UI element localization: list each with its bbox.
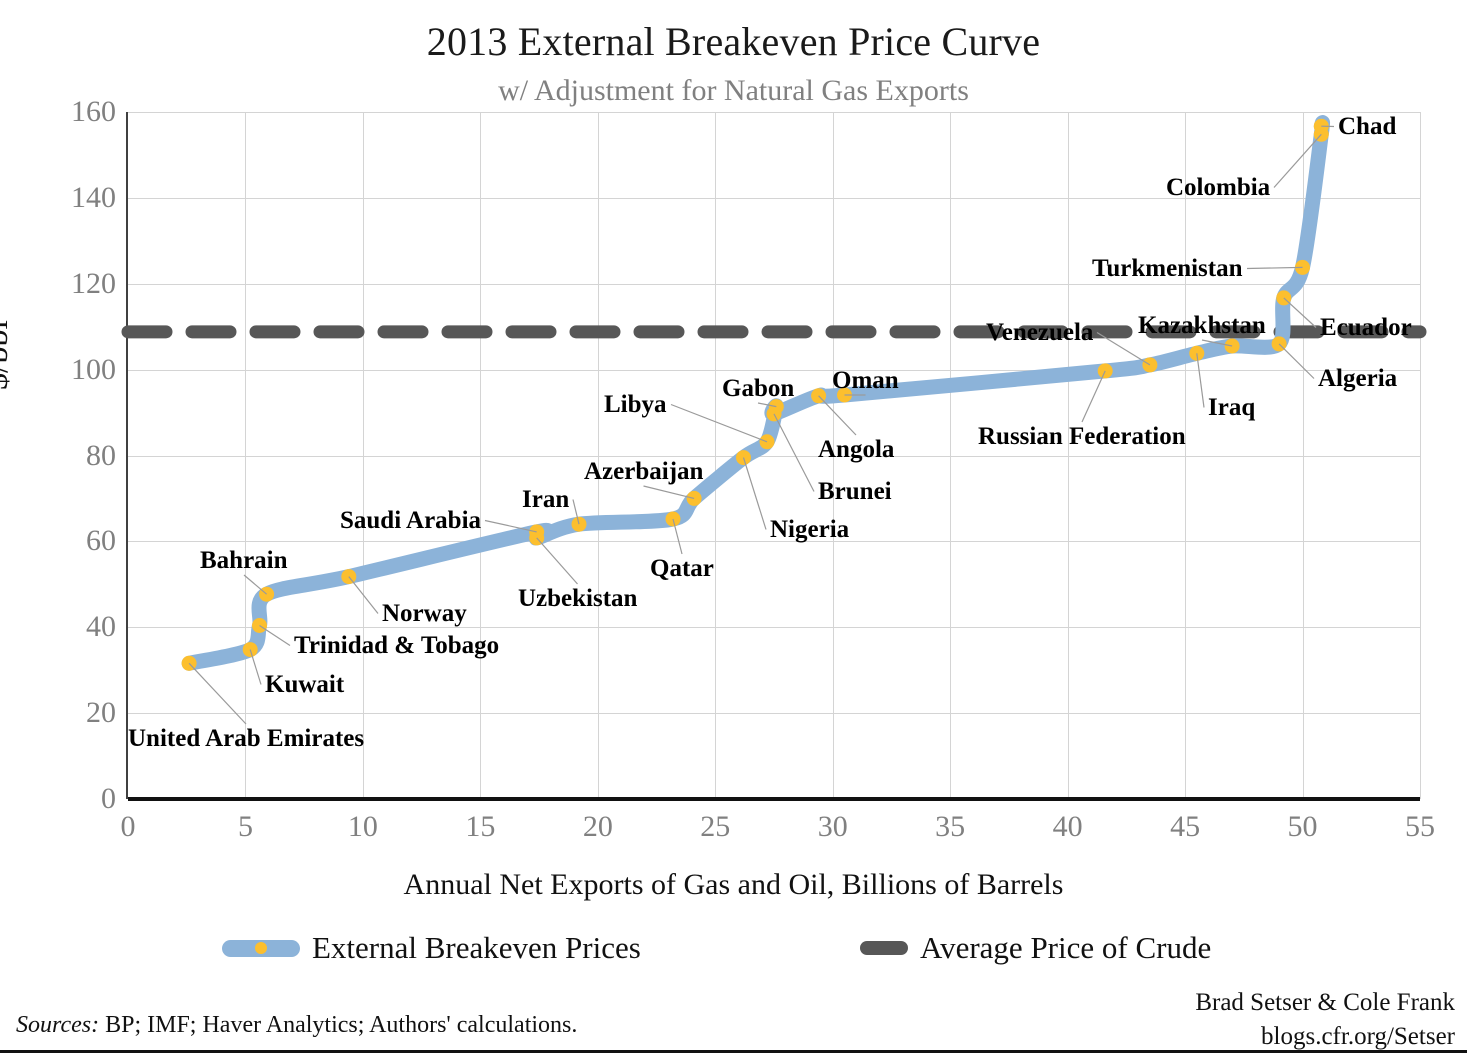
chart-credit: Brad Setser & Cole Frank blogs.cfr.org/S…	[1195, 986, 1455, 1054]
annotation-algeria: Algeria	[1318, 366, 1397, 391]
leader-line-brunei	[774, 414, 814, 492]
annotation-angola: Angola	[818, 437, 894, 462]
leader-line-bahrain	[244, 575, 267, 594]
annotation-qatar: Qatar	[650, 556, 714, 581]
chart-plot-area	[0, 0, 1467, 1056]
leader-line-algeria	[1279, 344, 1314, 379]
chart-legend: External Breakeven Prices Average Price …	[0, 930, 1467, 978]
legend-series-label: External Breakeven Prices	[312, 930, 641, 966]
credit-site[interactable]: blogs.cfr.org/Setser	[1195, 1020, 1455, 1054]
annotation-bahrain: Bahrain	[200, 548, 288, 573]
annotation-azerbaijan: Azerbaijan	[584, 459, 703, 484]
annotation-iraq: Iraq	[1208, 395, 1255, 420]
leader-line-nigeria	[744, 458, 767, 530]
annotation-gabon: Gabon	[722, 376, 794, 401]
annotation-uzbekistan: Uzbekistan	[518, 586, 637, 611]
leader-line-turkmenistan	[1247, 267, 1303, 268]
series-swatch-icon	[222, 940, 300, 957]
legend-reference-label: Average Price of Crude	[920, 930, 1211, 966]
sources-text: BP; IMF; Haver Analytics; Authors' calcu…	[99, 1012, 577, 1038]
credit-authors: Brad Setser & Cole Frank	[1195, 986, 1455, 1020]
leader-line-iraq	[1197, 353, 1204, 407]
leader-line-norway	[349, 577, 378, 614]
annotation-colombia: Colombia	[1166, 175, 1270, 200]
leader-line-uae	[189, 663, 246, 724]
annotation-norway: Norway	[382, 601, 467, 626]
annotation-uae: United Arab Emirates	[128, 726, 364, 751]
reference-swatch-icon	[860, 941, 908, 955]
annotation-libya: Libya	[604, 392, 667, 417]
annotation-kazakhstan: Kazakhstan	[1138, 313, 1266, 338]
sources-prefix: Sources:	[16, 1012, 99, 1038]
annotation-chad: Chad	[1338, 114, 1396, 139]
leader-line-libya	[671, 405, 767, 442]
annotation-saudi: Saudi Arabia	[340, 508, 481, 533]
annotation-russia: Russian Federation	[978, 424, 1186, 449]
annotation-turkmenistan: Turkmenistan	[1092, 256, 1243, 281]
legend-item-reference[interactable]: Average Price of Crude	[860, 930, 1211, 966]
leader-line-azerbaijan	[644, 486, 695, 498]
annotation-kuwait: Kuwait	[265, 672, 344, 697]
leader-line-uzbekistan	[537, 538, 578, 584]
annotation-trinidad: Trinidad & Tobago	[294, 633, 499, 658]
annotation-iran: Iran	[522, 487, 569, 512]
footer-rule	[0, 1050, 1467, 1053]
chart-sources: Sources: BP; IMF; Haver Analytics; Autho…	[16, 1012, 577, 1039]
annotation-oman: Oman	[832, 368, 899, 393]
legend-item-series[interactable]: External Breakeven Prices	[222, 930, 641, 966]
annotation-brunei: Brunei	[818, 479, 892, 504]
annotation-nigeria: Nigeria	[770, 517, 849, 542]
annotation-ecuador: Ecuador	[1320, 315, 1412, 340]
annotation-venezuela: Venezuela	[986, 320, 1093, 345]
